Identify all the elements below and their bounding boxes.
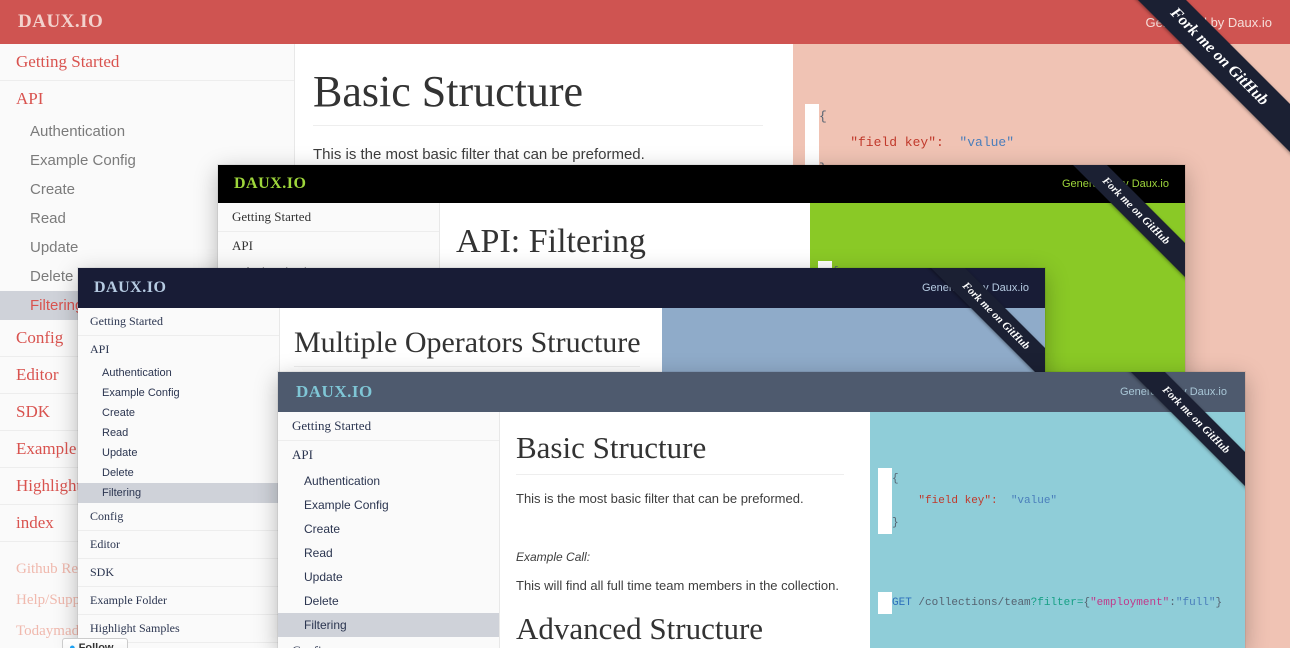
twitter-bird-icon: ● bbox=[69, 642, 76, 648]
sidebar-item-delete[interactable]: Delete bbox=[278, 589, 499, 613]
sidebar-item-filtering[interactable]: Filtering bbox=[78, 483, 279, 503]
sidebar-item-config[interactable]: Config bbox=[78, 503, 279, 531]
code-query-brace-close: } bbox=[1216, 597, 1223, 609]
example-call-label: Example Call: bbox=[516, 550, 844, 564]
page-title: Multiple Operators Structure bbox=[294, 326, 640, 360]
code-brace-close: } bbox=[892, 517, 899, 529]
screenshot-stage: DAUX.IO Generated by Daux.io Getting Sta… bbox=[0, 0, 1290, 648]
sidebar-item-filtering[interactable]: Filtering bbox=[278, 613, 499, 637]
sidebar-item-update[interactable]: Update bbox=[278, 565, 499, 589]
brand-logo[interactable]: DAUX.IO bbox=[18, 11, 103, 33]
sidebar-item-read[interactable]: Read bbox=[278, 541, 499, 565]
sidebar-item-example-config[interactable]: Example Config bbox=[78, 383, 279, 403]
twitter-follow-button[interactable]: ● Follow bbox=[62, 638, 128, 648]
intro-paragraph: This is the most basic filter that can b… bbox=[313, 146, 763, 163]
topbar: DAUX.IO Generated by Daux.io bbox=[0, 0, 1290, 44]
window-teal-basic-structure[interactable]: DAUX.IO Generated by Daux.io Getting Sta… bbox=[278, 372, 1245, 648]
page-title: API: Filtering bbox=[456, 223, 784, 261]
code-query-field: "employment" bbox=[1090, 597, 1169, 609]
section-title-advanced: Advanced Structure bbox=[516, 611, 844, 647]
code-brace-open: { bbox=[819, 109, 827, 124]
title-divider bbox=[516, 474, 844, 475]
sidebar-item-authentication[interactable]: Authentication bbox=[0, 117, 294, 146]
code-value: "value" bbox=[1011, 495, 1057, 507]
twitter-follow-label: Follow bbox=[79, 642, 114, 648]
sidebar-item-api[interactable]: API bbox=[218, 232, 439, 260]
page-title: Basic Structure bbox=[516, 430, 844, 466]
topbar: DAUX.IO Generated by Daux.io bbox=[218, 165, 1185, 203]
code-pane: { "field key": "value" } GET /collection… bbox=[870, 412, 1245, 648]
sidebar-item-editor[interactable]: Editor bbox=[78, 531, 279, 559]
sidebar-item-getting-started[interactable]: Getting Started bbox=[278, 412, 499, 441]
result-paragraph: This will find all full time team member… bbox=[516, 578, 844, 593]
sidebar[interactable]: Getting Started API Authentication Examp… bbox=[278, 412, 500, 648]
brand-logo[interactable]: DAUX.IO bbox=[94, 279, 166, 297]
sidebar-item-example-folder[interactable]: Example Folder bbox=[78, 587, 279, 615]
code-block-request[interactable]: GET /collections/team?filter={"employmen… bbox=[892, 592, 1245, 614]
sidebar-item-delete[interactable]: Delete bbox=[78, 463, 279, 483]
content-inner: Basic Structure This is the most basic f… bbox=[500, 412, 870, 648]
code-key: "field key": bbox=[819, 135, 944, 150]
sidebar-item-getting-started[interactable]: Getting Started bbox=[78, 308, 279, 336]
sidebar-item-create[interactable]: Create bbox=[78, 403, 279, 423]
sidebar-item-create[interactable]: Create bbox=[278, 517, 499, 541]
page-title: Basic Structure bbox=[313, 66, 763, 117]
code-query-colon: : bbox=[1169, 597, 1176, 609]
sidebar-item-authentication[interactable]: Authentication bbox=[278, 469, 499, 493]
code-http-method: GET bbox=[892, 597, 912, 609]
brand-logo[interactable]: DAUX.IO bbox=[296, 382, 373, 402]
title-divider bbox=[313, 125, 763, 126]
code-value: "value" bbox=[959, 135, 1014, 150]
sidebar-item-getting-started[interactable]: Getting Started bbox=[218, 203, 439, 232]
sidebar-item-config[interactable]: Config bbox=[278, 637, 499, 648]
code-block-basic[interactable]: { "field key": "value" } bbox=[892, 468, 1245, 534]
sidebar-item-getting-started[interactable]: Getting Started bbox=[0, 44, 294, 81]
sidebar-item-api[interactable]: API bbox=[278, 441, 499, 469]
sidebar-item-api[interactable]: API bbox=[0, 81, 294, 117]
code-brace-open: { bbox=[892, 473, 899, 485]
sidebar-item-sdk[interactable]: SDK bbox=[78, 559, 279, 587]
sidebar-item-update[interactable]: Update bbox=[78, 443, 279, 463]
sidebar[interactable]: Getting Started API Authentication Examp… bbox=[78, 308, 280, 648]
code-key: "field key": bbox=[892, 495, 998, 507]
brand-logo[interactable]: DAUX.IO bbox=[234, 175, 306, 193]
sidebar-item-authentication[interactable]: Authentication bbox=[78, 363, 279, 383]
topbar: DAUX.IO Generated by Daux.io bbox=[78, 268, 1045, 308]
window-body: Getting Started API Authentication Examp… bbox=[278, 412, 1245, 648]
code-query-key: ?filter= bbox=[1031, 597, 1084, 609]
code-query-value: "full" bbox=[1176, 597, 1216, 609]
title-divider bbox=[294, 366, 640, 367]
sidebar-item-read[interactable]: Read bbox=[78, 423, 279, 443]
sidebar-item-api[interactable]: API bbox=[78, 336, 279, 363]
topbar: DAUX.IO Generated by Daux.io bbox=[278, 372, 1245, 412]
intro-paragraph: This is the most basic filter that can b… bbox=[516, 491, 844, 506]
content-area: Basic Structure This is the most basic f… bbox=[500, 412, 870, 648]
sidebar-item-example-config[interactable]: Example Config bbox=[278, 493, 499, 517]
code-path: /collections/team bbox=[918, 597, 1030, 609]
content-inner: Basic Structure This is the most basic f… bbox=[295, 44, 793, 163]
